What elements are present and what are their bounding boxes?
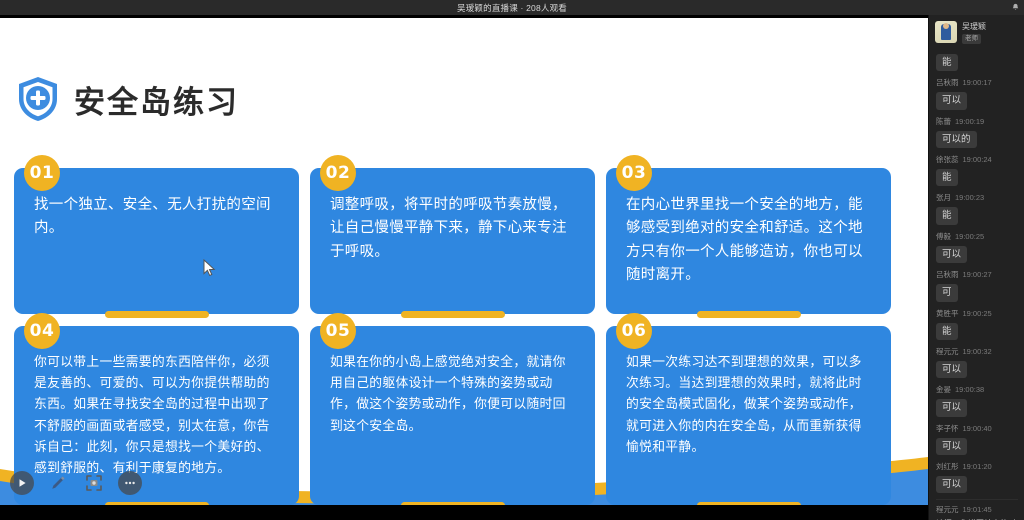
chat-message-time: 19:00:25 — [963, 309, 992, 318]
live-class-window: 吴瑷颖的直播课 · 208人观看 — [0, 0, 1024, 520]
chat-message: 吕秋雨 19:00:27 可 — [936, 269, 1018, 301]
chat-message-time: 19:00:25 — [955, 232, 984, 241]
step-text: 如果一次练习达不到理想的效果，可以多次练习。当达到理想的效果时，就将此时的安全岛… — [626, 352, 873, 458]
play-button[interactable] — [10, 471, 34, 495]
step-text: 你可以带上一些需要的东西陪伴你，必须是友善的、可爱的、可以为你提供帮助的东西。如… — [34, 352, 281, 479]
card-underline — [697, 502, 801, 505]
step-badge: 03 — [616, 155, 652, 191]
slide-header: 安全岛练习 — [16, 75, 239, 123]
chat-message-user: 陈蕾 — [936, 116, 951, 127]
presentation-stage: 安全岛练习 01 找一个独立、安全、无人打扰的空间内。 02 调整呼吸，将平时的… — [0, 15, 928, 520]
step-text: 调整呼吸，将平时的呼吸节奏放慢，让自己慢慢平静下来，静下心来专注于呼吸。 — [330, 194, 577, 264]
chat-message-list[interactable]: 能 吕秋雨 19:00:17 可以 陈蕾 19:00:19 可以的 徐张蕊 19… — [929, 50, 1024, 520]
step-text: 找一个独立、安全、无人打扰的空间内。 — [34, 194, 281, 241]
chat-message-time: 19:00:32 — [963, 347, 992, 356]
chat-message-user: 程元元 — [936, 346, 959, 357]
chat-message-time: 19:01:45 — [963, 505, 992, 514]
chat-message-bubble: 可以 — [936, 399, 967, 416]
chat-message-bubble: 能 — [936, 207, 958, 224]
step-card-06: 06 如果一次练习达不到理想的效果，可以多次练习。当达到理想的效果时，就将此时的… — [606, 326, 891, 505]
pencil-icon — [49, 474, 67, 492]
chat-message-bubble: 能 — [936, 169, 958, 186]
mouse-cursor — [203, 259, 216, 277]
chat-message: 黄胜平 19:00:25 能 — [936, 308, 1018, 340]
chat-message-time: 19:00:38 — [955, 385, 984, 394]
screenshot-button[interactable] — [82, 471, 106, 495]
card-underline — [105, 502, 209, 505]
step-card-02: 02 调整呼吸，将平时的呼吸节奏放慢，让自己慢慢平静下来，静下心来专注于呼吸。 — [310, 168, 595, 314]
chat-message: 吕秋雨 19:00:17 可以 — [936, 77, 1018, 109]
chat-message-time: 19:00:19 — [955, 117, 984, 126]
step-card-01: 01 找一个独立、安全、无人打扰的空间内。 — [14, 168, 299, 314]
step-card-05: 05 如果在你的小岛上感觉绝对安全，就请你用自己的躯体设计一个特殊的姿势或动作，… — [310, 326, 595, 505]
chat-message-user: 吕秋雨 — [936, 269, 959, 280]
chat-message: 傅毅 19:00:25 可以 — [936, 231, 1018, 263]
card-underline — [697, 311, 801, 318]
pencil-button[interactable] — [46, 471, 70, 495]
chat-message-bubble: 可 — [936, 284, 958, 301]
play-icon — [16, 477, 28, 489]
slide-toolbar — [10, 471, 142, 495]
step-text: 如果在你的小岛上感觉绝对安全，就请你用自己的躯体设计一个特殊的姿势或动作，做这个… — [330, 352, 577, 437]
chat-message-user: 程元元 — [936, 504, 959, 515]
chat-message-bubble: 可以 — [936, 246, 967, 263]
step-card-03: 03 在内心世界里找一个安全的地方，能够感受到绝对的安全和舒适。这个地方只有你一… — [606, 168, 891, 314]
chat-message-time: 19:00:40 — [963, 424, 992, 433]
chat-message-time: 19:00:24 — [963, 155, 992, 164]
step-card-grid: 01 找一个独立、安全、无人打扰的空间内。 02 调整呼吸，将平时的呼吸节奏放慢… — [14, 168, 904, 505]
chat-message: 刘红彤 19:01:20 可以 — [936, 461, 1018, 493]
card-underline — [401, 502, 505, 505]
chat-message: 程元元 19:01:45 请问，你讲至结束的时候，包 — [936, 504, 1018, 520]
chat-message-bubble: 可以的 — [936, 131, 977, 148]
chat-message-time: 19:00:23 — [955, 193, 984, 202]
chat-message: 张月 19:00:23 能 — [936, 192, 1018, 224]
chat-message-user: 刘红彤 — [936, 461, 959, 472]
chat-message: 李子怀 19:00:40 可以 — [936, 423, 1018, 455]
step-badge: 02 — [320, 155, 356, 191]
chat-message-bubble: 可以 — [936, 476, 967, 493]
chat-message-user: 徐张蕊 — [936, 154, 959, 165]
chat-message: 陈蕾 19:00:19 可以的 — [936, 116, 1018, 148]
chat-message-user: 金晏 — [936, 384, 951, 395]
step-badge: 04 — [24, 313, 60, 349]
card-underline — [401, 311, 505, 318]
chat-message: 金晏 19:00:38 可以 — [936, 384, 1018, 416]
chat-message-time: 19:00:17 — [963, 78, 992, 87]
host-role-badge: 老师 — [962, 34, 981, 44]
titlebar-actions — [1011, 0, 1020, 15]
shield-plus-icon — [16, 75, 60, 123]
more-icon — [123, 476, 137, 490]
chat-message-user: 张月 — [936, 192, 951, 203]
chat-message-bubble: 能 — [936, 54, 958, 71]
chat-message-bubble: 可以 — [936, 92, 967, 109]
chat-divider — [936, 499, 1018, 500]
page-title: 安全岛练习 — [74, 77, 239, 122]
screenshot-icon — [85, 474, 103, 492]
step-badge: 06 — [616, 313, 652, 349]
more-button[interactable] — [118, 471, 142, 495]
chat-panel[interactable]: 吴瑷颖 老师 能 吕秋雨 19:00:17 可以 陈蕾 19:00:19 可以的 — [928, 15, 1024, 520]
host-name: 吴瑷颖 — [962, 21, 986, 32]
window-titlebar: 吴瑷颖的直播课 · 208人观看 — [0, 0, 1024, 15]
card-underline — [105, 311, 209, 318]
chat-message-user: 吕秋雨 — [936, 77, 959, 88]
chat-message-time: 19:01:20 — [963, 462, 992, 471]
window-title: 吴瑷颖的直播课 · 208人观看 — [457, 2, 567, 14]
chat-host-header: 吴瑷颖 老师 — [929, 15, 1024, 50]
chat-message-user: 黄胜平 — [936, 308, 959, 319]
chat-message-user: 李子怀 — [936, 423, 959, 434]
chat-message-user: 傅毅 — [936, 231, 951, 242]
avatar — [935, 21, 957, 43]
step-badge: 01 — [24, 155, 60, 191]
chat-message-time: 19:00:27 — [963, 270, 992, 279]
bell-icon[interactable] — [1011, 3, 1020, 12]
step-badge: 05 — [320, 313, 356, 349]
chat-message: 徐张蕊 19:00:24 能 — [936, 154, 1018, 186]
chat-message-bubble: 能 — [936, 323, 958, 340]
step-text: 在内心世界里找一个安全的地方，能够感受到绝对的安全和舒适。这个地方只有你一个人能… — [626, 194, 873, 288]
chat-message-bubble: 可以 — [936, 438, 967, 455]
chat-message: 程元元 19:00:32 可以 — [936, 346, 1018, 378]
slide-canvas: 安全岛练习 01 找一个独立、安全、无人打扰的空间内。 02 调整呼吸，将平时的… — [0, 18, 928, 505]
chat-message-bubble: 可以 — [936, 361, 967, 378]
